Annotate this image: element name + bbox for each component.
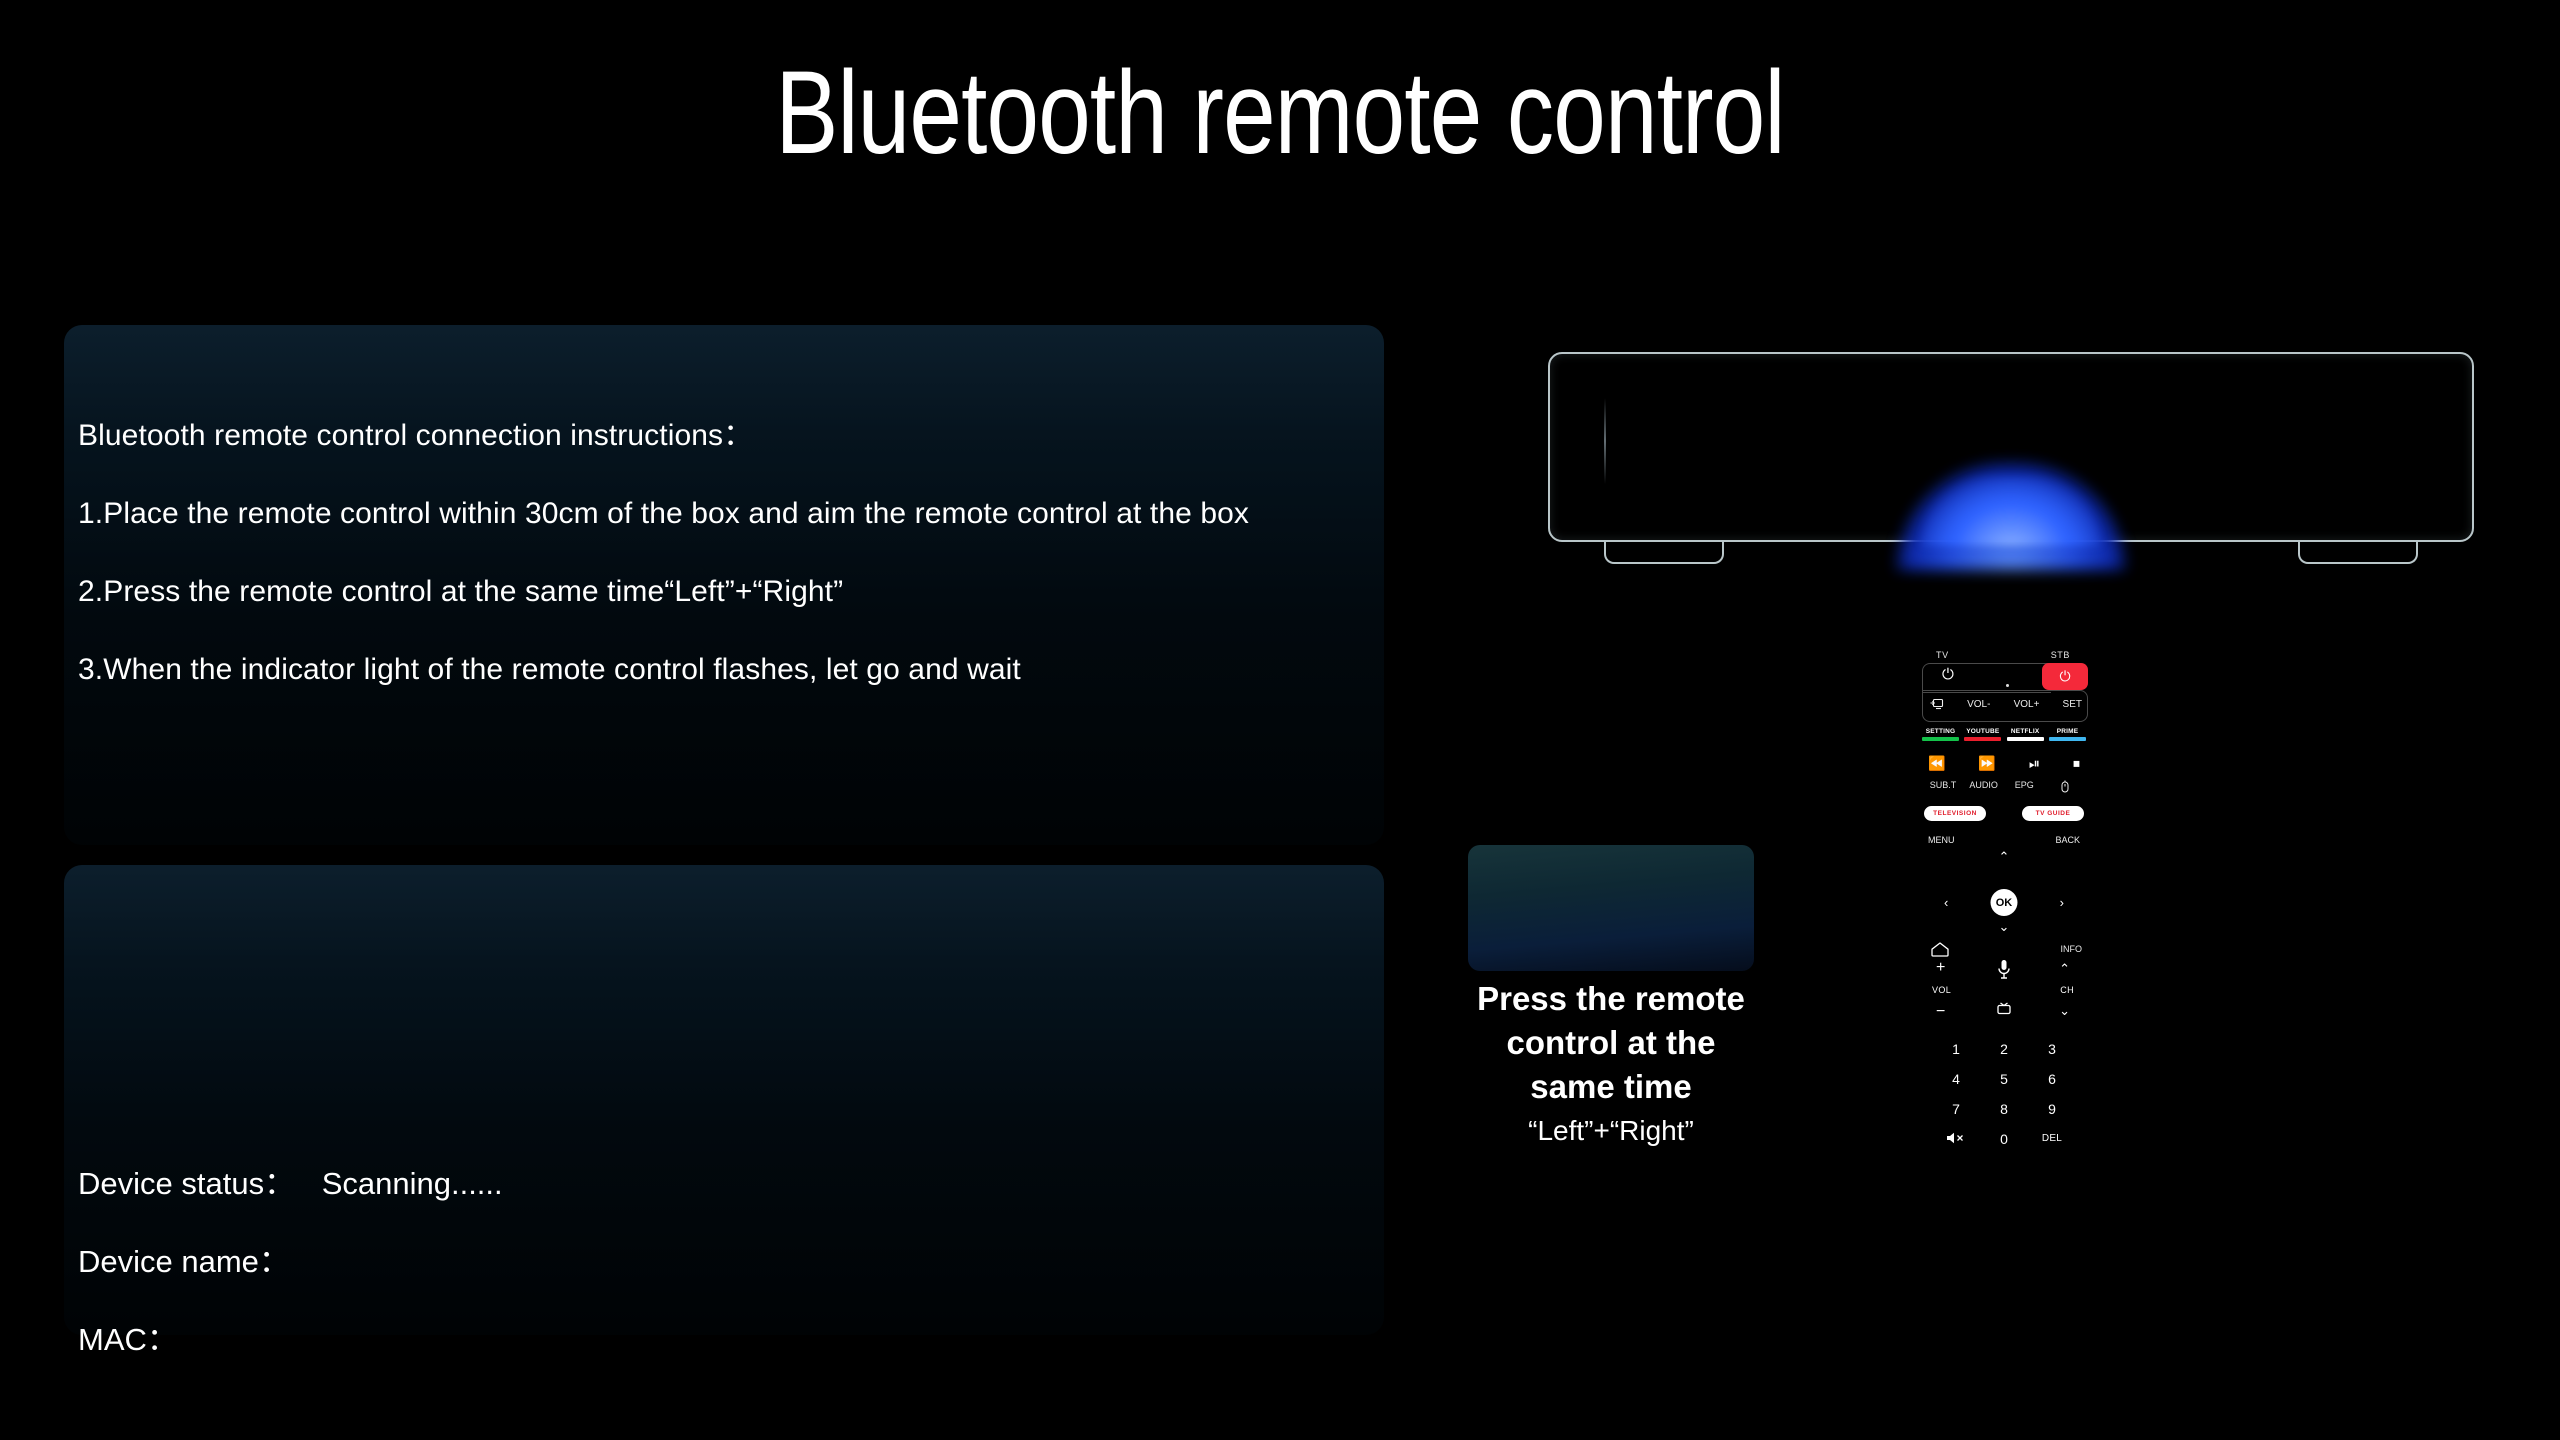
- app-shortcut-netflix[interactable]: NETFLIX: [2007, 727, 2044, 741]
- remote-transport-labels: SUB.T AUDIO EPG: [1916, 772, 2092, 794]
- instruction-step-2: 2.Press the remote control at the same t…: [78, 570, 1388, 614]
- instructions-heading: Bluetooth remote control connection inst…: [78, 414, 1388, 458]
- info-button[interactable]: INFO: [2061, 944, 2083, 954]
- instruction-step-3: 3.When the indicator light of the remote…: [78, 648, 1388, 692]
- back-button[interactable]: BACK: [2055, 835, 2080, 845]
- set-top-box-foot-right: [2298, 540, 2418, 564]
- key-9[interactable]: 9: [2028, 1101, 2076, 1117]
- microphone-icon[interactable]: [1996, 959, 2012, 981]
- rewind-icon[interactable]: ⏪: [1928, 755, 1945, 772]
- volume-up-button[interactable]: +: [1936, 959, 1945, 977]
- dpad-down-icon[interactable]: ⌄: [1999, 919, 2010, 935]
- epg-button-label[interactable]: EPG: [2005, 780, 2043, 794]
- set-top-box-illustration: [1548, 352, 2474, 542]
- press-remote-callout: Press the remote control at the same tim…: [1468, 845, 1754, 1151]
- instructions-text-block: Bluetooth remote control connection inst…: [78, 414, 1388, 692]
- callout-line-1: Press the remote: [1468, 977, 1754, 1021]
- device-name-row: Device name：: [78, 1223, 978, 1301]
- mute-icon[interactable]: [1932, 1131, 1980, 1147]
- key-5[interactable]: 5: [1980, 1071, 2028, 1087]
- tv-guide-button[interactable]: TV GUIDE: [2022, 806, 2084, 821]
- app-shortcut-prime[interactable]: PRIME: [2049, 727, 2086, 741]
- subtitle-button-label[interactable]: SUB.T: [1924, 780, 1962, 794]
- app-shortcut-youtube-label: YOUTUBE: [1964, 727, 2001, 736]
- volume-label: VOL: [1932, 985, 1951, 995]
- remote-app-shortcuts: SETTING YOUTUBE NETFLIX PRIME: [1916, 723, 2092, 741]
- key-1[interactable]: 1: [1932, 1041, 1980, 1057]
- key-del[interactable]: DEL: [2028, 1131, 2076, 1147]
- set-top-box-seam: [1604, 398, 1606, 484]
- app-shortcut-netflix-bar: [2007, 737, 2044, 741]
- remote-big-buttons: TELEVISION TV GUIDE: [1916, 794, 2092, 821]
- fast-forward-icon[interactable]: ⏩: [1978, 755, 1995, 772]
- instruction-step-1: 1.Place the remote control within 30cm o…: [78, 492, 1378, 536]
- remote-menu-back-row: MENU BACK: [1916, 821, 2092, 845]
- device-name-label: Device name：: [78, 1244, 290, 1279]
- key-4[interactable]: 4: [1932, 1071, 1980, 1087]
- remote-top-labels: TV STB: [1916, 650, 2092, 662]
- remote-power-row-labels: VOL- VOL+ SET: [1916, 693, 2092, 715]
- television-button[interactable]: TELEVISION: [1924, 806, 1986, 821]
- remote-keypad: 1 2 3 4 5 6 7 8 9 0 DEL: [1916, 1033, 2092, 1147]
- app-shortcut-youtube[interactable]: YOUTUBE: [1964, 727, 2001, 741]
- set-top-box-foot-left: [1604, 540, 1724, 564]
- dpad-left-icon[interactable]: ‹: [1944, 895, 1948, 910]
- channel-up-icon[interactable]: ⌃: [2059, 961, 2070, 977]
- slide-root: Bluetooth remote control Bluetooth remot…: [0, 0, 2560, 1440]
- remote-tv-label: TV: [1936, 650, 1949, 662]
- dpad-right-icon[interactable]: ›: [2060, 895, 2064, 910]
- callout-line-2: control at the: [1468, 1021, 1754, 1065]
- volume-down-button[interactable]: −: [1936, 1003, 1945, 1021]
- key-6[interactable]: 6: [2028, 1071, 2076, 1087]
- vol-minus-label[interactable]: VOL-: [1967, 699, 1990, 710]
- app-shortcut-prime-label: PRIME: [2049, 727, 2086, 736]
- page-title: Bluetooth remote control: [256, 52, 2304, 176]
- app-shortcut-setting-label: SETTING: [1922, 727, 1959, 736]
- dpad-up-icon[interactable]: ⌃: [1999, 849, 2010, 865]
- audio-button-label[interactable]: AUDIO: [1965, 780, 2003, 794]
- home-icon[interactable]: [1930, 941, 1950, 957]
- app-shortcut-youtube-bar: [1964, 737, 2001, 741]
- app-shortcut-setting-bar: [1922, 737, 1959, 741]
- stb-power-button[interactable]: ⏻: [2042, 663, 2088, 690]
- mac-label: MAC：: [78, 1322, 178, 1357]
- device-status-label: Device status：: [78, 1166, 295, 1201]
- mouse-icon[interactable]: [2046, 780, 2084, 794]
- app-shortcut-setting[interactable]: SETTING: [1922, 727, 1959, 741]
- device-status-value: Scanning......: [322, 1166, 503, 1201]
- device-status-row: Device status： Scanning......: [78, 1145, 978, 1223]
- key-0[interactable]: 0: [1980, 1131, 2028, 1147]
- bluetooth-remote-illustration: TV STB ⏻ ⏻ VOL- VOL+ SET: [1916, 650, 2092, 1147]
- callout-line-3: same time: [1468, 1065, 1754, 1109]
- key-3[interactable]: 3: [2028, 1041, 2076, 1057]
- remote-stb-label: STB: [2051, 650, 2070, 662]
- set-label[interactable]: SET: [2063, 699, 2082, 710]
- key-7[interactable]: 7: [1932, 1101, 1980, 1117]
- device-status-block: Device status： Scanning...... Device nam…: [78, 1145, 978, 1379]
- tv-input-icon[interactable]: [1995, 999, 2013, 1017]
- remote-vol-ch-cluster: + VOL − ⌃ CH ⌄: [1916, 959, 2092, 1033]
- mac-row: MAC：: [78, 1301, 978, 1379]
- remote-transport-row: ⏪ ⏩ ⏯ ⏹: [1916, 741, 2092, 772]
- set-top-box-body: [1548, 352, 2474, 542]
- input-source-icon[interactable]: [1930, 698, 1944, 710]
- remote-power-cluster: ⏻ ⏻ VOL- VOL+ SET: [1916, 663, 2092, 723]
- vol-plus-label[interactable]: VOL+: [2014, 699, 2040, 710]
- app-shortcut-netflix-label: NETFLIX: [2007, 727, 2044, 736]
- callout-subtext: “Left”+“Right”: [1468, 1111, 1754, 1151]
- tv-power-icon[interactable]: ⏻: [1942, 666, 1954, 683]
- play-pause-icon[interactable]: ⏯: [2029, 755, 2040, 772]
- app-shortcut-prime-bar: [2049, 737, 2086, 741]
- remote-press-illustration: [1468, 845, 1754, 971]
- menu-button[interactable]: MENU: [1928, 835, 1955, 845]
- channel-label: CH: [2060, 985, 2074, 995]
- key-8[interactable]: 8: [1980, 1101, 2028, 1117]
- stop-icon[interactable]: ⏹: [2073, 755, 2080, 772]
- remote-indicator-dot: [2006, 684, 2009, 687]
- ok-button[interactable]: OK: [1991, 889, 2018, 916]
- remote-dpad: ⌃ ‹ OK › ⌄ INFO: [1916, 847, 2092, 957]
- channel-down-icon[interactable]: ⌄: [2059, 1003, 2070, 1019]
- callout-text: Press the remote control at the same tim…: [1468, 977, 1754, 1109]
- key-2[interactable]: 2: [1980, 1041, 2028, 1057]
